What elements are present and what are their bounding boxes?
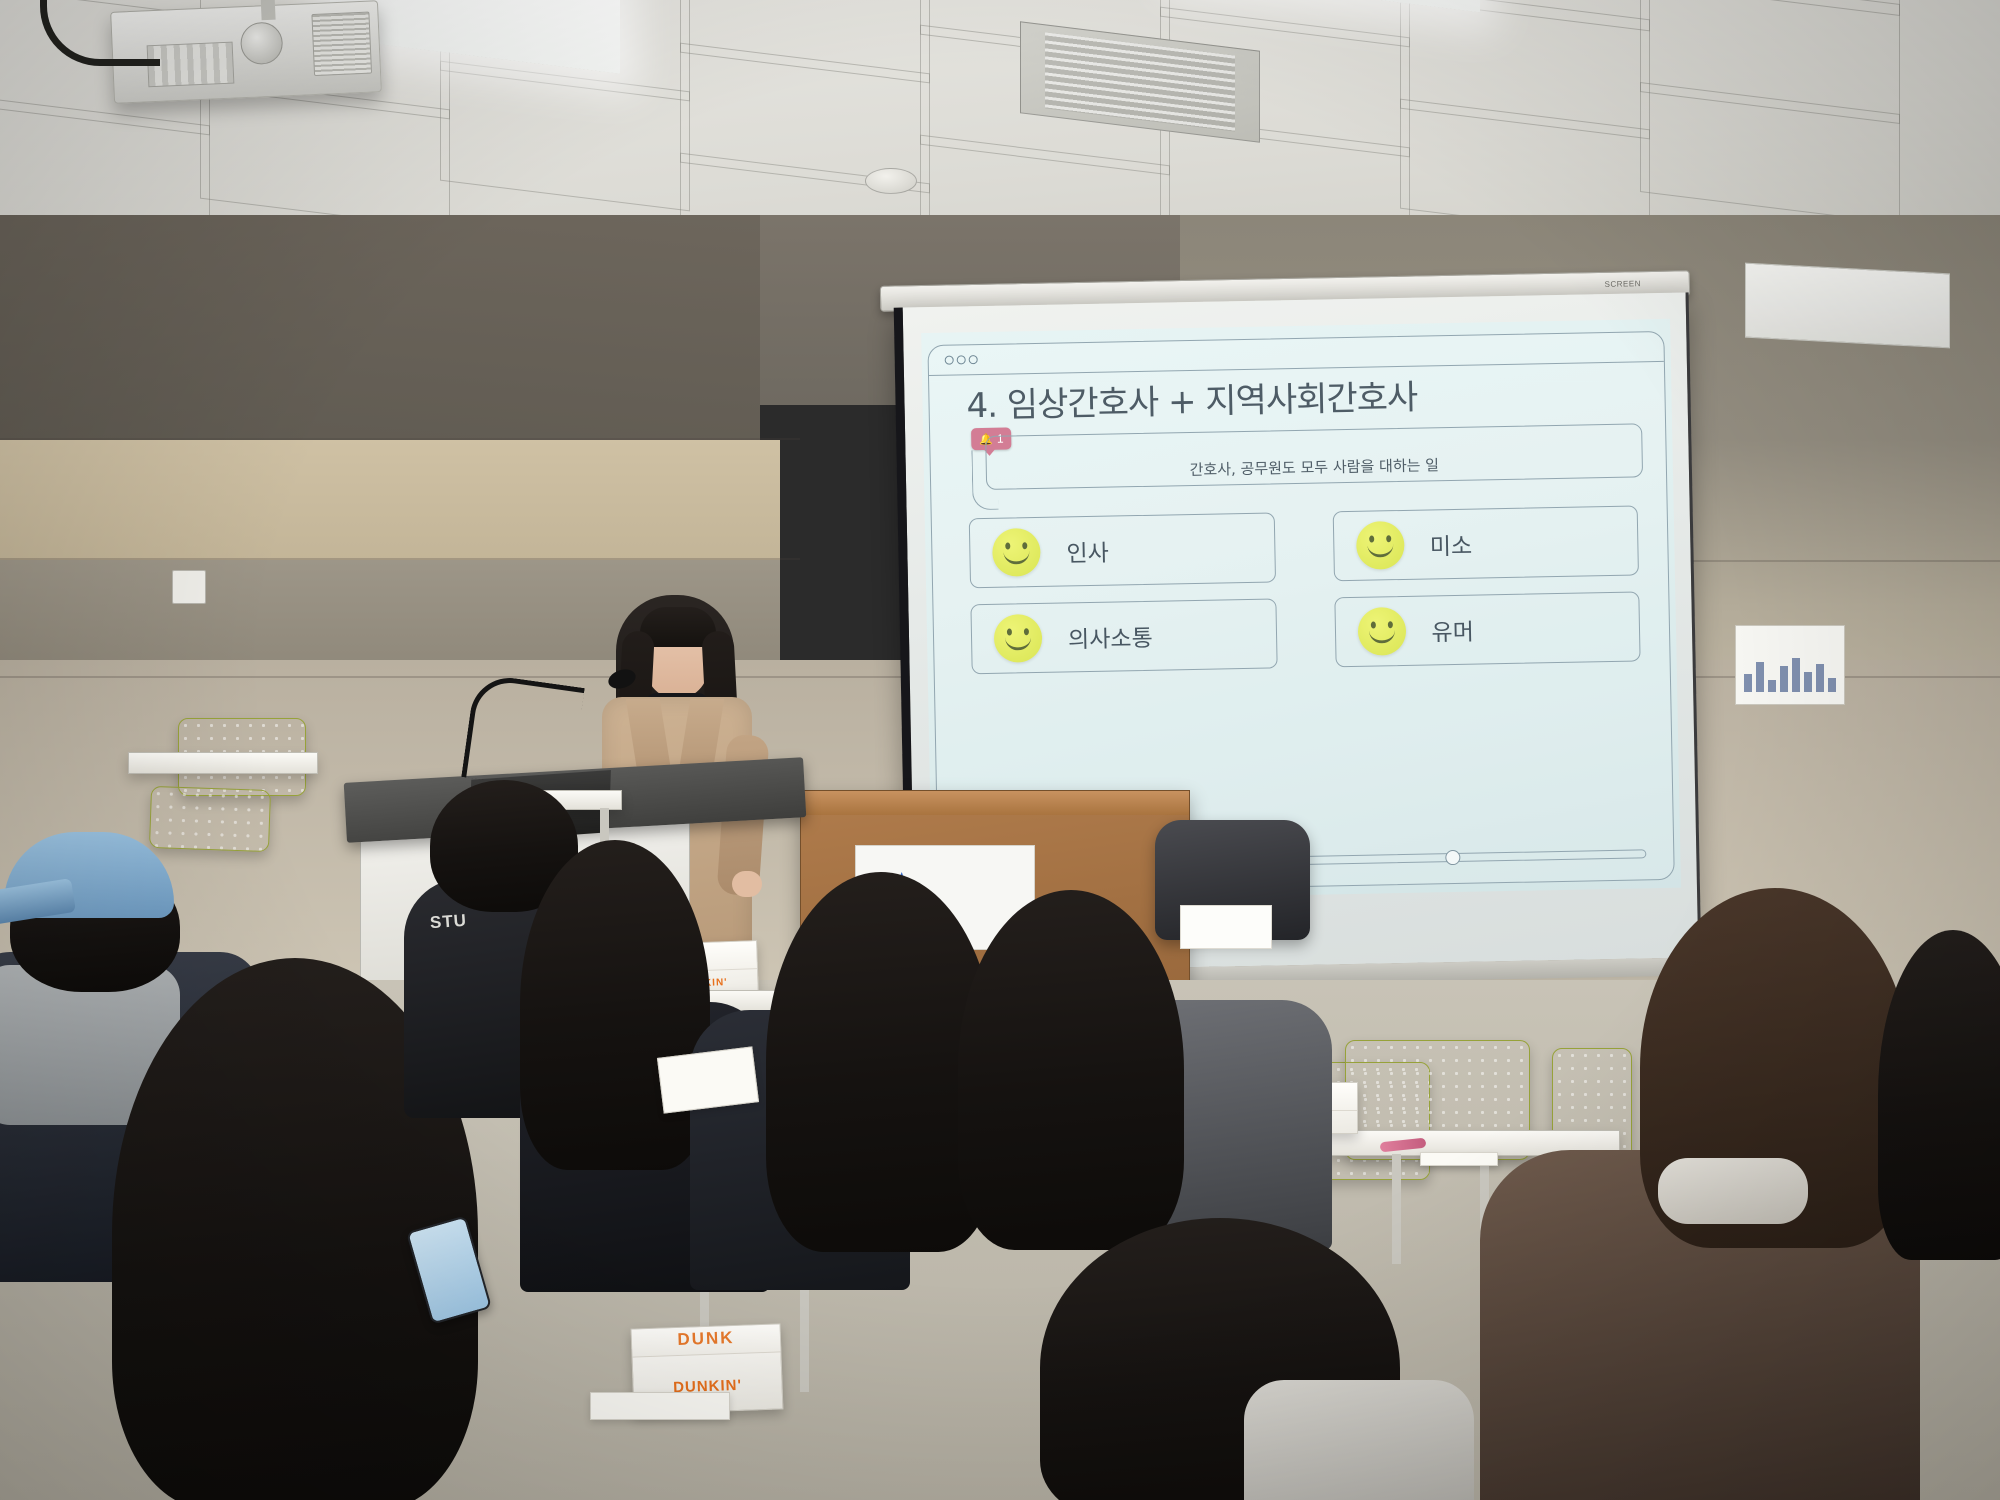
wall-light-reflection xyxy=(1745,263,1950,349)
option-label: 인사 xyxy=(1066,534,1109,569)
slide-option-item: 미소 xyxy=(1332,505,1639,581)
smiley-icon xyxy=(1355,521,1404,570)
slide-option-item: 의사소통 xyxy=(970,598,1277,674)
smiley-icon xyxy=(994,614,1043,663)
paper-sheet xyxy=(657,1046,759,1113)
option-label: 유머 xyxy=(1431,613,1474,648)
tissue-pack xyxy=(1180,905,1272,949)
slide-window-chrome xyxy=(928,332,1663,376)
smoke-detector xyxy=(865,168,917,194)
desk xyxy=(128,752,318,774)
smiley-icon xyxy=(1357,607,1406,656)
wall-light-switch[interactable] xyxy=(172,570,206,604)
slide-callout-text: 간호사, 공무원도 모두 사람을 대하는 일 xyxy=(987,450,1642,484)
projector-lens xyxy=(240,21,284,65)
screen-case-label: SCREEN xyxy=(1605,279,1642,289)
option-label: 미소 xyxy=(1430,527,1473,562)
paper-sheet xyxy=(1420,1152,1498,1166)
smiley-icon xyxy=(992,528,1041,577)
microphone-stand xyxy=(461,673,585,792)
projector-vent xyxy=(311,12,372,76)
poster-bar-chart xyxy=(1744,656,1836,692)
audience-member-head xyxy=(958,890,1184,1250)
wall-poster xyxy=(1735,625,1845,705)
lecture-hall-photo: SCREEN 4. 임상간호사 + 지역사회간호사 🔔 1 간호사, 공무원도 … xyxy=(0,0,2000,1500)
slide-option-item: 인사 xyxy=(969,512,1276,588)
wall-wood-panel-dark xyxy=(0,215,760,465)
hoodie-graphic-text: STU xyxy=(429,911,467,934)
slider-knob xyxy=(1445,850,1460,865)
callout-tail xyxy=(971,450,998,510)
slide-option-item: 유머 xyxy=(1334,591,1641,667)
slide-title: 4. 임상간호사 + 지역사회간호사 xyxy=(966,370,1418,428)
option-label: 의사소통 xyxy=(1068,619,1153,655)
paper-sheet xyxy=(590,1392,730,1420)
audience-member-head xyxy=(520,840,710,1170)
slide-option-grid: 인사 미소 의사소통 유머 xyxy=(969,505,1641,674)
audience-member-scarf xyxy=(1658,1158,1808,1224)
window-dots-icon xyxy=(945,355,978,365)
audience-member-body xyxy=(1244,1380,1474,1500)
wall-panel-beige xyxy=(0,440,780,570)
chair xyxy=(149,786,271,852)
